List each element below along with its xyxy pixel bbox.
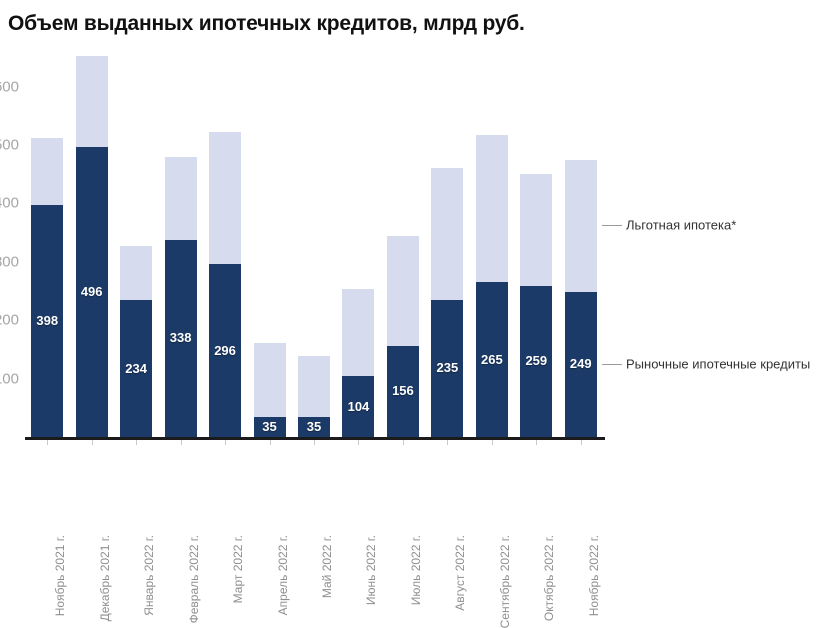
- bar-column[interactable]: 234: [120, 246, 152, 437]
- bar-segment-market: 35: [298, 417, 330, 437]
- bar-value-label: 249: [565, 356, 597, 371]
- bar-value-label: 265: [476, 352, 508, 367]
- legend-label-preferential: Льготная ипотека*: [626, 218, 736, 233]
- bar-value-label: 259: [520, 353, 552, 368]
- x-axis-tick-mark: [270, 440, 271, 445]
- bar-segment-market: 234: [120, 300, 152, 437]
- x-axis-tick-label: Март 2022 г.: [231, 535, 245, 603]
- x-axis-tick-mark: [358, 440, 359, 445]
- bar-segment-preferential: [565, 160, 597, 292]
- x-axis-tick-mark: [581, 440, 582, 445]
- bar-segment-market: 156: [387, 346, 419, 437]
- bar-segment-preferential: [120, 246, 152, 300]
- bar-value-label: 398: [31, 313, 63, 328]
- y-axis-tick-label: 500: [0, 137, 19, 154]
- x-axis-tick-mark: [92, 440, 93, 445]
- x-axis-tick-mark: [492, 440, 493, 445]
- y-axis-tick-label: 200: [0, 312, 19, 329]
- bar-column[interactable]: 398: [31, 138, 63, 438]
- y-axis-tick-label: 100: [0, 370, 19, 387]
- x-axis-tick-mark: [47, 440, 48, 445]
- bar-value-label: 104: [342, 399, 374, 414]
- x-axis-tick-label: Декабрь 2021 г.: [98, 535, 112, 621]
- bar-segment-preferential: [165, 157, 197, 239]
- bar-segment-market: 35: [254, 417, 286, 437]
- x-axis-tick-mark: [181, 440, 182, 445]
- bar-segment-preferential: [431, 168, 463, 300]
- bar-segment-market: 398: [31, 205, 63, 437]
- bar-segment-preferential: [387, 236, 419, 346]
- x-axis-line: [25, 437, 605, 440]
- bar-column[interactable]: 496: [76, 56, 108, 437]
- y-axis-tick-label: 600: [0, 78, 19, 95]
- bar-segment-market: 265: [476, 282, 508, 437]
- bar-value-label: 235: [431, 360, 463, 375]
- bar-segment-preferential: [254, 343, 286, 417]
- bar-segment-market: 104: [342, 376, 374, 437]
- x-axis-tick-label: Август 2022 г.: [453, 535, 467, 611]
- x-axis-tick-label: Сентябрь 2022 г.: [498, 535, 512, 628]
- bar-value-label: 496: [76, 284, 108, 299]
- x-axis-tick-mark: [225, 440, 226, 445]
- bar-column[interactable]: 104: [342, 289, 374, 437]
- bar-segment-preferential: [342, 289, 374, 377]
- bar-column[interactable]: 265: [476, 135, 508, 437]
- bar-column[interactable]: 235: [431, 168, 463, 437]
- bar-column[interactable]: 156: [387, 236, 419, 437]
- bar-segment-preferential: [520, 174, 552, 286]
- x-axis-tick-label: Июль 2022 г.: [409, 535, 423, 605]
- bar-segment-market: 249: [565, 292, 597, 437]
- x-axis-tick-mark: [447, 440, 448, 445]
- bar-segment-preferential: [76, 56, 108, 148]
- bar-segment-preferential: [298, 356, 330, 417]
- bar-column[interactable]: 35: [254, 343, 286, 437]
- y-axis-tick-label: 300: [0, 253, 19, 270]
- x-axis-tick-label: Апрель 2022 г.: [276, 535, 290, 615]
- plot-area: 1002003004005006003984962343382963535104…: [25, 40, 603, 437]
- y-axis-tick-label: 400: [0, 195, 19, 212]
- x-axis-tick-label: Октябрь 2022 г.: [542, 535, 556, 621]
- x-axis-tick-mark: [536, 440, 537, 445]
- bar-value-label: 338: [165, 330, 197, 345]
- bar-value-label: 234: [120, 361, 152, 376]
- bar-column[interactable]: 249: [565, 160, 597, 437]
- bar-value-label: 35: [254, 419, 286, 434]
- chart-title: Объем выданных ипотечных кредитов, млрд …: [8, 12, 525, 36]
- bar-column[interactable]: 296: [209, 132, 241, 437]
- bar-segment-preferential: [31, 138, 63, 205]
- bar-segment-market: 496: [76, 147, 108, 437]
- x-axis-tick-label: Май 2022 г.: [320, 535, 334, 598]
- bar-segment-market: 235: [431, 300, 463, 437]
- bar-segment-market: 296: [209, 264, 241, 437]
- bar-value-label: 296: [209, 343, 241, 358]
- x-axis-tick-label: Июнь 2022 г.: [364, 535, 378, 605]
- bar-column[interactable]: 35: [298, 356, 330, 437]
- legend-leader-line-bottom: [602, 364, 622, 365]
- legend-leader-line-top: [602, 225, 622, 226]
- legend-label-market: Рыночные ипотечные кредиты: [626, 357, 810, 372]
- x-axis-tick-mark: [314, 440, 315, 445]
- bar-segment-market: 338: [165, 240, 197, 437]
- bar-value-label: 35: [298, 419, 330, 434]
- bar-value-label: 156: [387, 383, 419, 398]
- x-axis-tick-label: Январь 2022 г.: [142, 535, 156, 616]
- x-axis-tick-label: Ноябрь 2021 г.: [53, 535, 67, 616]
- bar-segment-market: 259: [520, 286, 552, 437]
- chart-container: Объем выданных ипотечных кредитов, млрд …: [0, 0, 818, 543]
- bar-column[interactable]: 259: [520, 174, 552, 437]
- x-axis-tick-label: Февраль 2022 г.: [187, 535, 201, 623]
- x-axis-tick-mark: [136, 440, 137, 445]
- x-axis-tick-label: Ноябрь 2022 г.: [587, 535, 601, 616]
- bar-segment-preferential: [209, 132, 241, 264]
- x-axis-tick-mark: [403, 440, 404, 445]
- bar-column[interactable]: 338: [165, 157, 197, 437]
- bar-segment-preferential: [476, 135, 508, 283]
